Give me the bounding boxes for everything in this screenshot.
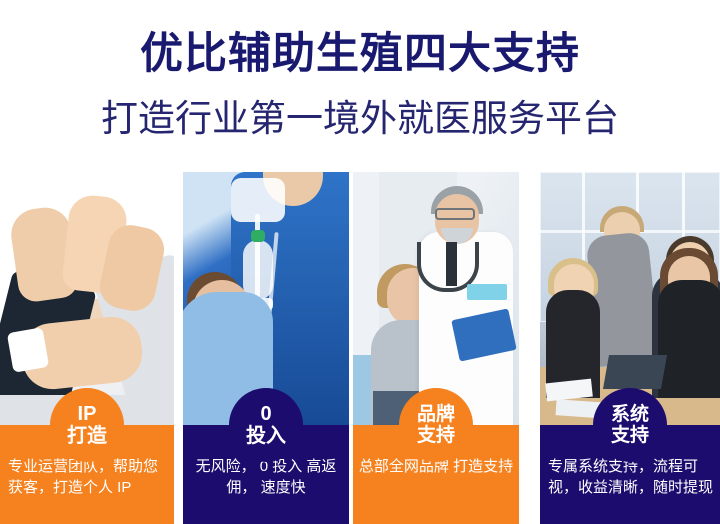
card-photo-handshake [0, 170, 174, 425]
badge-line-1: 品牌 [417, 404, 455, 425]
badge-line-2: 支持 [417, 425, 455, 446]
card-description: 无风险， 0 投入 高返佣， 速度快 [183, 456, 349, 522]
page-title: 优比辅助生殖四大支持 [0, 28, 720, 80]
feature-card-brand-support[interactable]: 品牌 支持 总部全网品牌 打造支持 [353, 170, 519, 524]
badge-line-1: 0 [260, 403, 271, 425]
badge-line-2: 打造 [67, 425, 107, 447]
card-description: 专业运营团队，帮助您获客，打造个人 IP [0, 456, 174, 522]
feature-card-system-support[interactable]: 系统 支持 专属系统支持，流程可视，收益清晰，随时提现 [540, 170, 720, 524]
badge-line-2: 支持 [611, 425, 649, 446]
card-description: 总部全网品牌 打造支持 [353, 456, 519, 522]
feature-card-grid: IP 打造 专业运营团队，帮助您获客，打造个人 IP 0 投入 无风险， 0 投… [0, 170, 720, 524]
card-description: 专属系统支持，流程可视，收益清晰，随时提现 [540, 456, 720, 522]
card-badge-brand-support: 品牌 支持 [399, 388, 473, 462]
card-badge-ip: IP 打造 [50, 388, 124, 462]
card-badge-zero-investment: 0 投入 [229, 388, 303, 462]
card-badge-system-support: 系统 支持 [593, 388, 667, 462]
badge-line-1: IP [78, 403, 97, 425]
promo-banner: 优比辅助生殖四大支持 打造行业第一境外就医服务平台 IP 打造 专业运营团队，帮… [0, 0, 720, 524]
feature-card-zero-investment[interactable]: 0 投入 无风险， 0 投入 高返佣， 速度快 [183, 170, 349, 524]
page-subtitle: 打造行业第一境外就医服务平台 [0, 96, 720, 142]
badge-line-1: 系统 [611, 404, 649, 425]
badge-line-2: 投入 [246, 425, 286, 447]
banner-header: 优比辅助生殖四大支持 打造行业第一境外就医服务平台 [0, 0, 720, 172]
feature-card-ip[interactable]: IP 打造 专业运营团队，帮助您获客，打造个人 IP [0, 170, 174, 524]
